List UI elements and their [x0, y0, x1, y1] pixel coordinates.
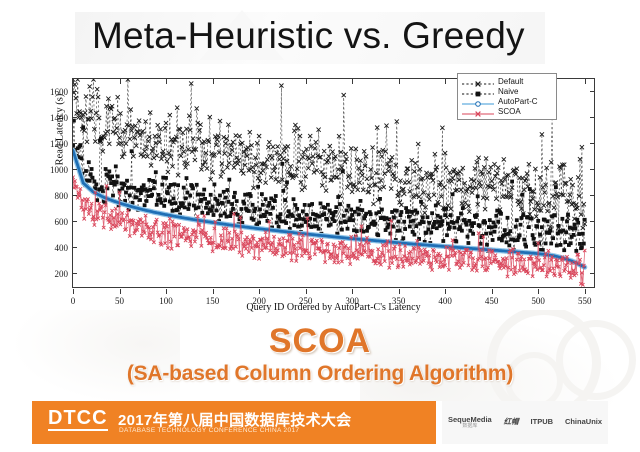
legend-symbol — [461, 76, 495, 86]
footer-orange-bar: DTCC 2017年第八届中国数据库技术大会 DATABASE TECHNOLO… — [32, 401, 436, 444]
legend-label: Naive — [498, 87, 518, 96]
x-tick-mark — [166, 289, 167, 294]
x-tick-mark — [259, 79, 260, 84]
sponsor-logos: SequeMedia数据库红帽ITPUBChinaUnix — [442, 401, 608, 444]
legend-item-default: Default — [461, 76, 553, 86]
legend-item-naive: Naive — [461, 86, 553, 96]
sponsor-logo: ChinaUnix — [565, 418, 602, 426]
x-tick-mark — [259, 289, 260, 294]
y-tick-mark — [590, 169, 595, 170]
conference-title-en: DATABASE TECHNOLOGY CONFERENCE CHINA 201… — [119, 427, 299, 434]
x-tick-mark — [399, 79, 400, 84]
y-tick-label: 1200 — [50, 139, 68, 149]
read-latency-chart: Read Latency (s) 20040060080010001200140… — [14, 70, 614, 310]
legend-symbol — [461, 106, 495, 116]
y-tick-mark — [72, 195, 77, 196]
sponsor-logo: ITPUB — [531, 418, 554, 426]
x-tick-mark — [585, 289, 586, 294]
x-tick-mark — [352, 79, 353, 84]
y-tick-mark — [72, 91, 77, 92]
y-tick-mark — [72, 273, 77, 274]
y-tick-label: 1000 — [50, 165, 68, 175]
y-tick-mark — [590, 117, 595, 118]
x-tick-mark — [445, 79, 446, 84]
y-axis-ticks: 2004006008001000120014001600 — [14, 78, 68, 288]
y-tick-mark — [590, 91, 595, 92]
scoa-headline: SCOA — [0, 322, 640, 361]
x-axis-label: Query ID Ordered by AutoPart-C's Latency — [72, 302, 595, 313]
x-tick-mark — [120, 79, 121, 84]
y-tick-mark — [72, 143, 77, 144]
y-tick-label: 800 — [55, 191, 69, 201]
y-tick-label: 1400 — [50, 113, 68, 123]
legend-label: Default — [498, 77, 523, 86]
sponsor-logo: 红帽 — [504, 418, 519, 426]
legend-label: AutoPart-C — [498, 97, 538, 106]
x-tick-mark — [352, 289, 353, 294]
y-tick-mark — [72, 221, 77, 222]
slide: Meta-Heuristic vs. Greedy Read Latency (… — [0, 0, 640, 452]
y-tick-mark — [72, 247, 77, 248]
y-tick-label: 200 — [55, 269, 69, 279]
x-tick-mark — [213, 79, 214, 84]
footer-banner: DTCC 2017年第八届中国数据库技术大会 DATABASE TECHNOLO… — [32, 401, 608, 444]
x-tick-mark — [399, 289, 400, 294]
y-tick-label: 400 — [55, 243, 69, 253]
x-tick-mark — [585, 79, 586, 84]
y-tick-mark — [72, 169, 77, 170]
x-tick-mark — [306, 79, 307, 84]
legend-item-autopart-c: AutoPart-C — [461, 96, 553, 106]
y-tick-mark — [72, 117, 77, 118]
page-title: Meta-Heuristic vs. Greedy — [92, 11, 572, 61]
sponsor-logo: SequeMedia数据库 — [448, 416, 492, 430]
legend-symbol — [461, 86, 495, 96]
x-tick-mark — [73, 79, 74, 84]
x-tick-mark — [445, 289, 446, 294]
x-tick-mark — [166, 79, 167, 84]
y-tick-label: 1600 — [50, 87, 68, 97]
dtcc-logo: DTCC — [48, 408, 108, 431]
legend-label: SCOA — [498, 107, 521, 116]
y-tick-mark — [590, 247, 595, 248]
x-tick-mark — [120, 289, 121, 294]
x-tick-mark — [538, 289, 539, 294]
scoa-subheadline: (SA-based Column Ordering Algorithm) — [0, 362, 640, 386]
y-tick-label: 600 — [55, 217, 69, 227]
x-tick-mark — [213, 289, 214, 294]
y-tick-mark — [590, 195, 595, 196]
y-tick-mark — [590, 273, 595, 274]
x-tick-mark — [492, 289, 493, 294]
y-tick-mark — [590, 221, 595, 222]
chart-legend: DefaultNaiveAutoPart-CSCOA — [457, 73, 557, 120]
x-tick-mark — [73, 289, 74, 294]
y-tick-mark — [590, 143, 595, 144]
legend-symbol — [461, 96, 495, 106]
legend-item-scoa: SCOA — [461, 106, 553, 116]
x-tick-mark — [306, 289, 307, 294]
